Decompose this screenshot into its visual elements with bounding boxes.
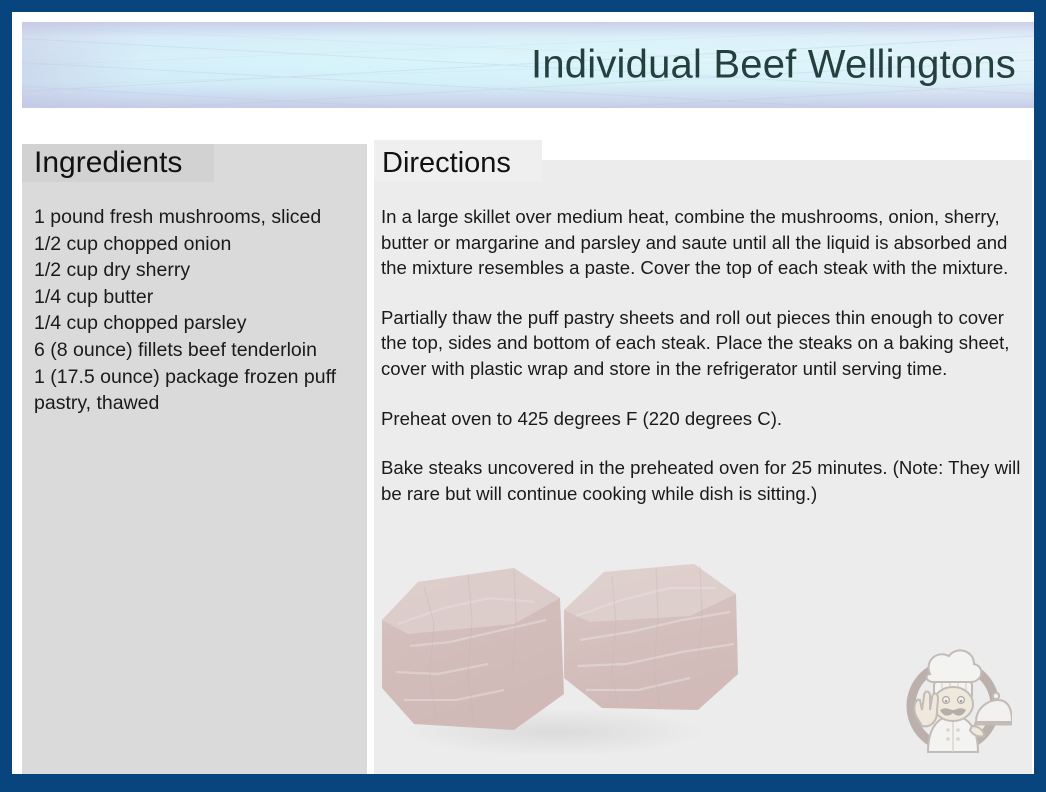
list-item: 1/2 cup chopped onion: [34, 231, 364, 258]
directions-heading: Directions: [382, 143, 511, 183]
list-item: 1 (17.5 ounce) package frozen puff pastr…: [34, 364, 364, 417]
recipe-slide: Individual Beef Wellingtons Ingredients …: [0, 0, 1046, 792]
header-banner: Individual Beef Wellingtons: [22, 22, 1034, 108]
list-item: 1/4 cup chopped parsley: [34, 310, 364, 337]
list-item: 1 pound fresh mushrooms, sliced: [34, 204, 364, 231]
directions-text: In a large skillet over medium heat, com…: [381, 204, 1021, 506]
list-item: 1/2 cup dry sherry: [34, 257, 364, 284]
direction-paragraph: In a large skillet over medium heat, com…: [381, 204, 1021, 281]
direction-paragraph: Partially thaw the puff pastry sheets an…: [381, 305, 1021, 382]
ingredients-heading: Ingredients: [34, 143, 182, 183]
ingredients-list: 1 pound fresh mushrooms, sliced 1/2 cup …: [34, 204, 364, 417]
direction-paragraph: Bake steaks uncovered in the preheated o…: [381, 455, 1021, 506]
page-title: Individual Beef Wellingtons: [531, 43, 1016, 88]
list-item: 6 (8 ounce) fillets beef tenderloin: [34, 337, 364, 364]
direction-paragraph: Preheat oven to 425 degrees F (220 degre…: [381, 406, 1021, 432]
list-item: 1/4 cup butter: [34, 284, 364, 311]
